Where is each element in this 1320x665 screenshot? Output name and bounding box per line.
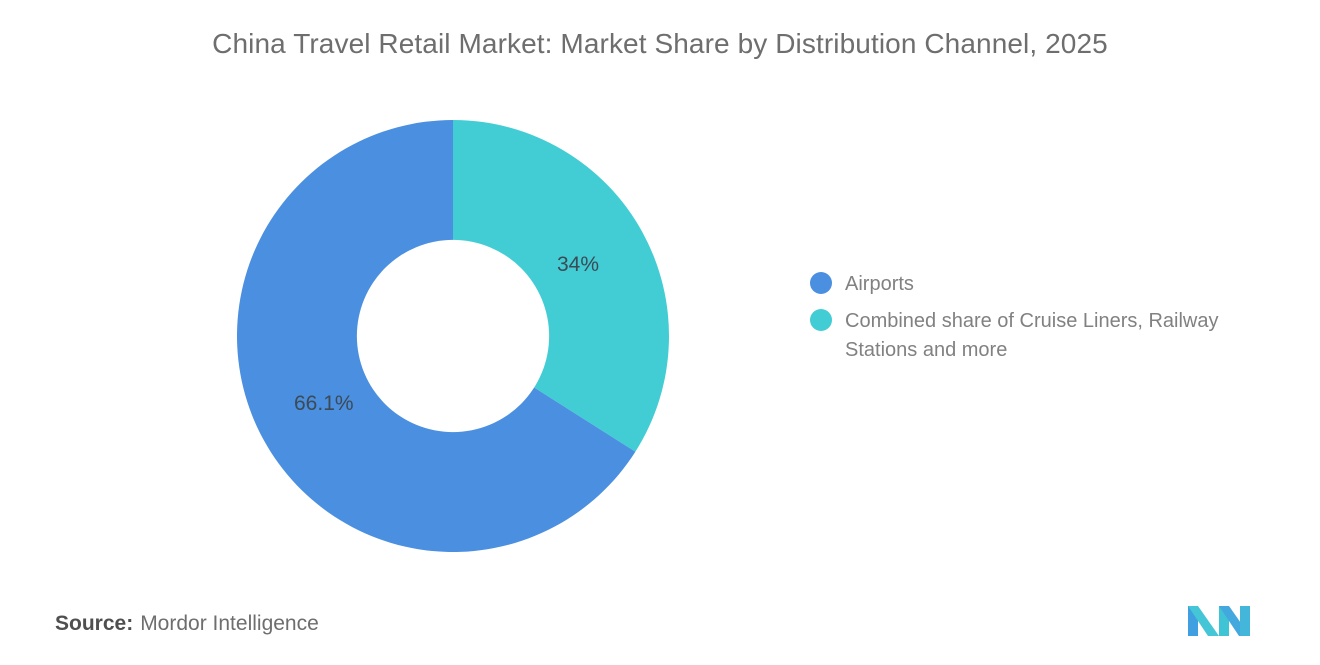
- donut-chart-svg: [237, 120, 669, 552]
- legend-item-label: Combined share of Cruise Liners, Railway…: [845, 307, 1275, 365]
- source-attribution: Source:Mordor Intelligence: [55, 612, 319, 636]
- chart-title: China Travel Retail Market: Market Share…: [0, 28, 1320, 60]
- chart-legend: Airports Combined share of Cruise Liners…: [810, 270, 1280, 373]
- source-value: Mordor Intelligence: [140, 612, 319, 635]
- pie-slice-label-airports: 66.1%: [294, 392, 354, 416]
- pie-slice-label-combined-share: 34%: [557, 253, 599, 277]
- source-label: Source:: [55, 612, 133, 635]
- legend-item-airports[interactable]: Airports: [810, 270, 1280, 299]
- donut-hole: [357, 240, 549, 432]
- mordor-intelligence-logo-icon: [1186, 598, 1252, 636]
- legend-item-label: Airports: [845, 270, 914, 299]
- legend-color-swatch-icon: [810, 309, 832, 331]
- donut-chart: [237, 120, 669, 552]
- legend-color-swatch-icon: [810, 272, 832, 294]
- legend-item-combined-share[interactable]: Combined share of Cruise Liners, Railway…: [810, 307, 1280, 365]
